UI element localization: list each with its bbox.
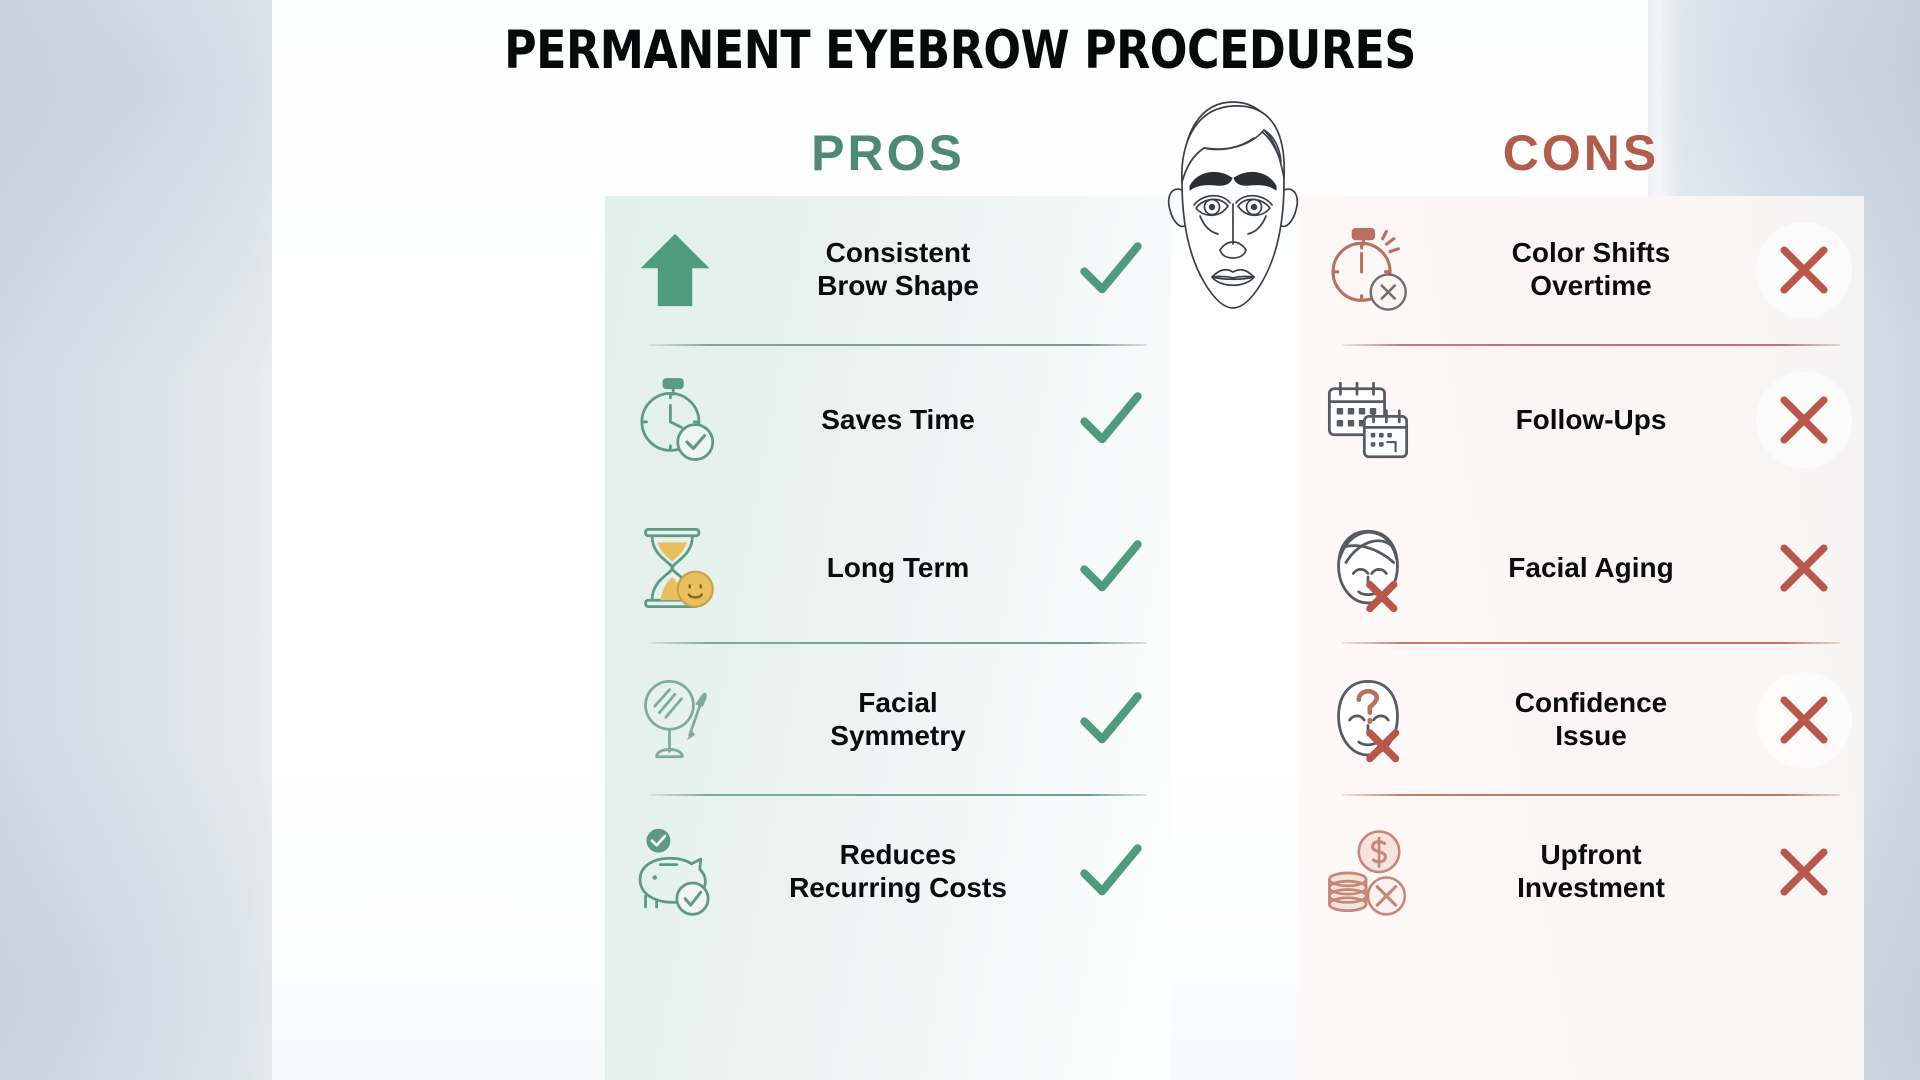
stopwatch-check-icon: [605, 360, 745, 480]
cons-column-heading: CONS: [1298, 124, 1864, 182]
cons-mark-3: [1744, 537, 1864, 599]
cons-label-5: UpfrontInvestment: [1438, 839, 1744, 905]
piggy-bank-check-icon: [605, 812, 745, 932]
pros-row-1[interactable]: ConsistentBrow Shape: [605, 196, 1171, 344]
pros-mark-5: [1051, 835, 1171, 909]
pros-label-1: ConsistentBrow Shape: [745, 237, 1051, 303]
question-face-cross-icon: [1298, 660, 1438, 780]
cons-divider-3: [1342, 794, 1840, 796]
female-face-eyebrows-illustration: [1140, 86, 1326, 326]
hourglass-smiley-icon: [605, 508, 745, 628]
cons-label-2: Follow-Ups: [1438, 404, 1744, 437]
pros-panel: ConsistentBrow Shape Save: [605, 196, 1171, 1080]
cons-row-2[interactable]: Follow-Ups: [1298, 346, 1864, 494]
cons-label-4: ConfidenceIssue: [1438, 687, 1744, 753]
page-title: PERMANENT EYEBROW PROCEDURES: [320, 20, 1600, 81]
pros-label-5: ReducesRecurring Costs: [745, 839, 1051, 905]
pros-mark-3: [1051, 531, 1171, 605]
pros-column-heading: PROS: [605, 124, 1171, 182]
bandaged-face-cross-icon: [1298, 508, 1438, 628]
pros-divider-2: [649, 642, 1147, 644]
pros-row-3[interactable]: Long Term: [605, 494, 1171, 642]
cons-mark-1: [1744, 239, 1864, 301]
pros-row-2[interactable]: Saves Time: [605, 346, 1171, 494]
pros-mark-2: [1051, 383, 1171, 457]
pros-row-5[interactable]: ReducesRecurring Costs: [605, 798, 1171, 946]
cons-mark-4: [1744, 689, 1864, 751]
coins-dollar-cross-icon: [1298, 812, 1438, 932]
cons-row-3[interactable]: Facial Aging: [1298, 494, 1864, 642]
infographic-card: PERMANENT EYEBROW PROCEDURES PROS CONS: [272, 0, 1648, 1080]
pros-label-4: FacialSymmetry: [745, 687, 1051, 753]
pros-divider-3: [649, 794, 1147, 796]
calendar-icon: [1298, 360, 1438, 480]
cons-label-3: Facial Aging: [1438, 552, 1744, 585]
pros-row-4[interactable]: FacialSymmetry: [605, 646, 1171, 794]
cons-divider-2: [1342, 642, 1840, 644]
cons-panel: Color ShiftsOvertime: [1298, 196, 1864, 1080]
pros-label-2: Saves Time: [745, 404, 1051, 437]
up-arrow-icon: [605, 210, 745, 330]
cons-mark-2: [1744, 389, 1864, 451]
cons-row-4[interactable]: ConfidenceIssue: [1298, 646, 1864, 794]
cons-row-1[interactable]: Color ShiftsOvertime: [1298, 196, 1864, 344]
cons-mark-5: [1744, 841, 1864, 903]
cons-row-5[interactable]: UpfrontInvestment: [1298, 798, 1864, 946]
pros-mark-4: [1051, 683, 1171, 757]
mirror-brush-icon: [605, 660, 745, 780]
pros-label-3: Long Term: [745, 552, 1051, 585]
cons-label-1: Color ShiftsOvertime: [1438, 237, 1744, 303]
